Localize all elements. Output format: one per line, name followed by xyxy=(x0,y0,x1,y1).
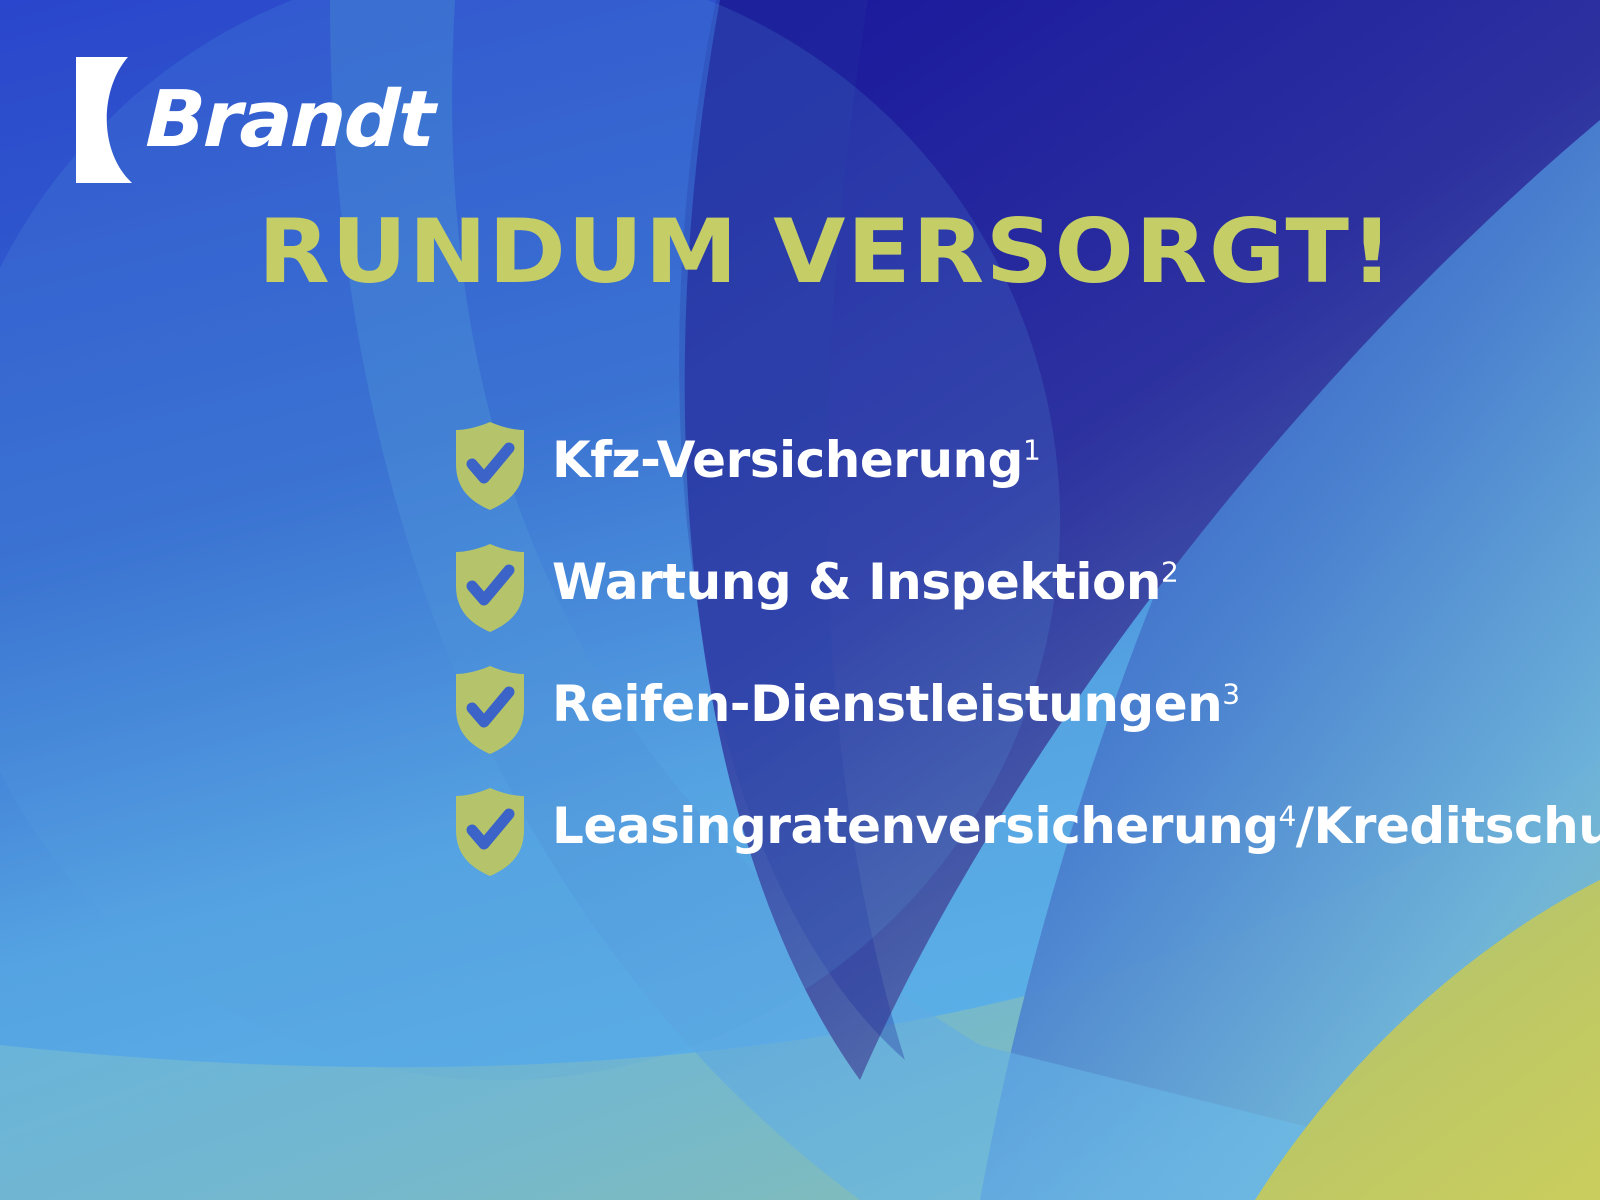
footnote-marker: 1 xyxy=(1023,433,1040,466)
list-item-label: Wartung & Inspektion2 xyxy=(552,540,1178,613)
list-item-label: Leasingratenversicherung4/Kreditschutzbr… xyxy=(552,784,1352,857)
promo-graphic: Brandt RUNDUM VERSORGT! Kfz-Versicherung… xyxy=(0,0,1600,1200)
shield-check-icon xyxy=(452,786,528,878)
benefit-label-text: Leasingratenversicherung xyxy=(552,797,1278,855)
bracket-crescent-icon xyxy=(70,55,142,185)
benefit-list: Kfz-Versicherung1 Wartung & Inspektion2 … xyxy=(452,418,1552,906)
benefit-label-text: Kfz-Versicherung xyxy=(552,431,1023,489)
benefit-label-separator: / xyxy=(1296,797,1314,855)
list-item-label: Reifen-Dienstleistungen3 xyxy=(552,662,1240,735)
footnote-marker: 3 xyxy=(1222,677,1239,710)
list-item: Kfz-Versicherung1 xyxy=(452,418,1552,512)
shield-check-icon xyxy=(452,542,528,634)
shield-check-icon xyxy=(452,664,528,756)
footnote-marker: 4 xyxy=(1278,799,1295,832)
benefit-label-text: Wartung & Inspektion xyxy=(552,553,1161,611)
list-item: Wartung & Inspektion2 xyxy=(452,540,1552,634)
benefit-label-text: Reifen-Dienstleistungen xyxy=(552,675,1222,733)
brand-logo: Brandt xyxy=(70,55,433,185)
list-item-label: Kfz-Versicherung1 xyxy=(552,418,1040,491)
page-title: RUNDUM VERSORGT! xyxy=(258,206,1395,298)
list-item: Reifen-Dienstleistungen3 xyxy=(452,662,1552,756)
footnote-marker: 2 xyxy=(1161,555,1178,588)
list-item: Leasingratenversicherung4/Kreditschutzbr… xyxy=(452,784,1552,878)
brand-name: Brandt xyxy=(145,81,435,159)
shield-check-icon xyxy=(452,420,528,512)
benefit-label-text-second: Kreditschutzbrief xyxy=(1314,797,1600,855)
